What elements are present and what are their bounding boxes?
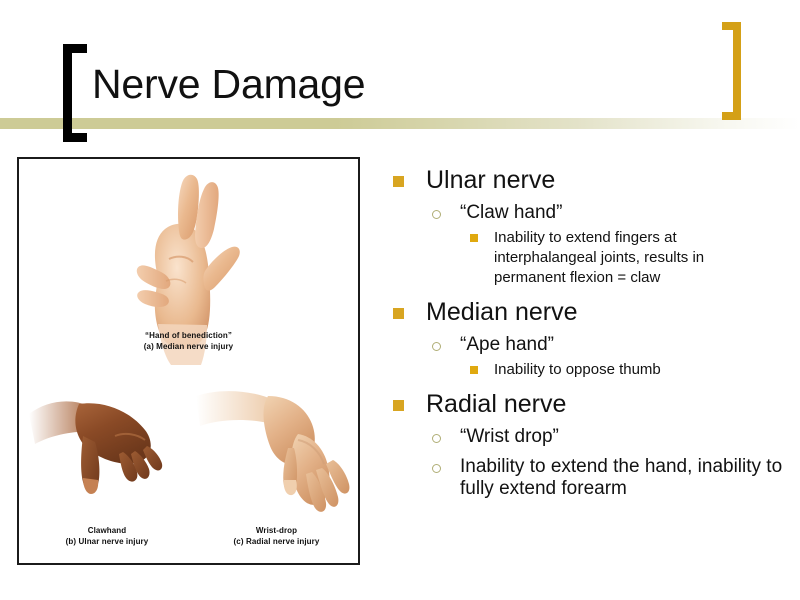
bullet-content: Ulnar nerve “Claw hand” Inability to ext…	[388, 166, 794, 501]
circle-bullet-icon	[432, 210, 441, 219]
bullet-level2-ape-hand: “Ape hand”	[388, 334, 794, 357]
caption-c-line2: (c) Radial nerve injury	[194, 537, 359, 548]
square-bullet-icon	[393, 176, 404, 187]
title-underline-band	[0, 118, 800, 129]
clawhand-illustration	[27, 374, 187, 524]
caption-b-line1: Clawhand	[88, 526, 127, 535]
left-bracket-decoration	[63, 44, 87, 142]
circle-bullet-icon	[432, 342, 441, 351]
right-bracket-decoration	[722, 22, 741, 120]
bullet-level3-median-detail: Inability to oppose thumb	[388, 360, 794, 380]
bullet-level1-label: Radial nerve	[426, 390, 566, 420]
circle-bullet-icon	[432, 434, 441, 443]
figure-hand-of-benediction: “Hand of benediction” (a) Median nerve i…	[19, 159, 358, 374]
circle-bullet-icon	[432, 464, 441, 473]
bullet-level2-label: “Wrist drop”	[460, 426, 559, 449]
caption-a-line2: (a) Median nerve injury	[19, 342, 358, 353]
figure-caption-c: Wrist-drop (c) Radial nerve injury	[194, 526, 359, 548]
bullet-level3-label: Inability to extend fingers at interphal…	[494, 228, 744, 288]
bullet-level2-claw-hand: “Claw hand”	[388, 202, 794, 225]
page-title: Nerve Damage	[92, 63, 365, 106]
square-bullet-icon	[393, 400, 404, 411]
figure-clawhand: Clawhand (b) Ulnar nerve injury	[27, 374, 187, 564]
figure-wrist-drop: Wrist-drop (c) Radial nerve injury	[194, 374, 359, 564]
figure-caption-b: Clawhand (b) Ulnar nerve injury	[27, 526, 187, 548]
small-square-bullet-icon	[470, 234, 478, 242]
caption-a-line1: “Hand of benediction”	[145, 331, 232, 340]
small-square-bullet-icon	[470, 366, 478, 374]
bullet-level1-label: Median nerve	[426, 298, 577, 328]
bullet-level2-label: “Ape hand”	[460, 334, 554, 357]
bullet-level1-ulnar: Ulnar nerve	[388, 166, 794, 196]
caption-c-line1: Wrist-drop	[256, 526, 297, 535]
figure-caption-a: “Hand of benediction” (a) Median nerve i…	[19, 331, 358, 353]
bullet-level1-label: Ulnar nerve	[426, 166, 555, 196]
figure-panel: “Hand of benediction” (a) Median nerve i…	[17, 157, 360, 565]
bullet-level2-wrist-drop: “Wrist drop”	[388, 426, 794, 449]
bullet-level2-label: “Claw hand”	[460, 202, 562, 225]
bullet-level1-median: Median nerve	[388, 298, 794, 328]
bullet-level2-radial-detail: Inability to extend the hand, inability …	[388, 456, 794, 502]
bullet-level3-ulnar-detail: Inability to extend fingers at interphal…	[388, 228, 794, 288]
bullet-level3-label: Inability to oppose thumb	[494, 360, 661, 380]
square-bullet-icon	[393, 308, 404, 319]
bullet-level1-radial: Radial nerve	[388, 390, 794, 420]
caption-b-line2: (b) Ulnar nerve injury	[27, 537, 187, 548]
wrist-drop-illustration	[194, 374, 359, 524]
slide: Nerve Damage	[0, 0, 800, 600]
bullet-level2-label: Inability to extend the hand, inability …	[460, 456, 794, 502]
